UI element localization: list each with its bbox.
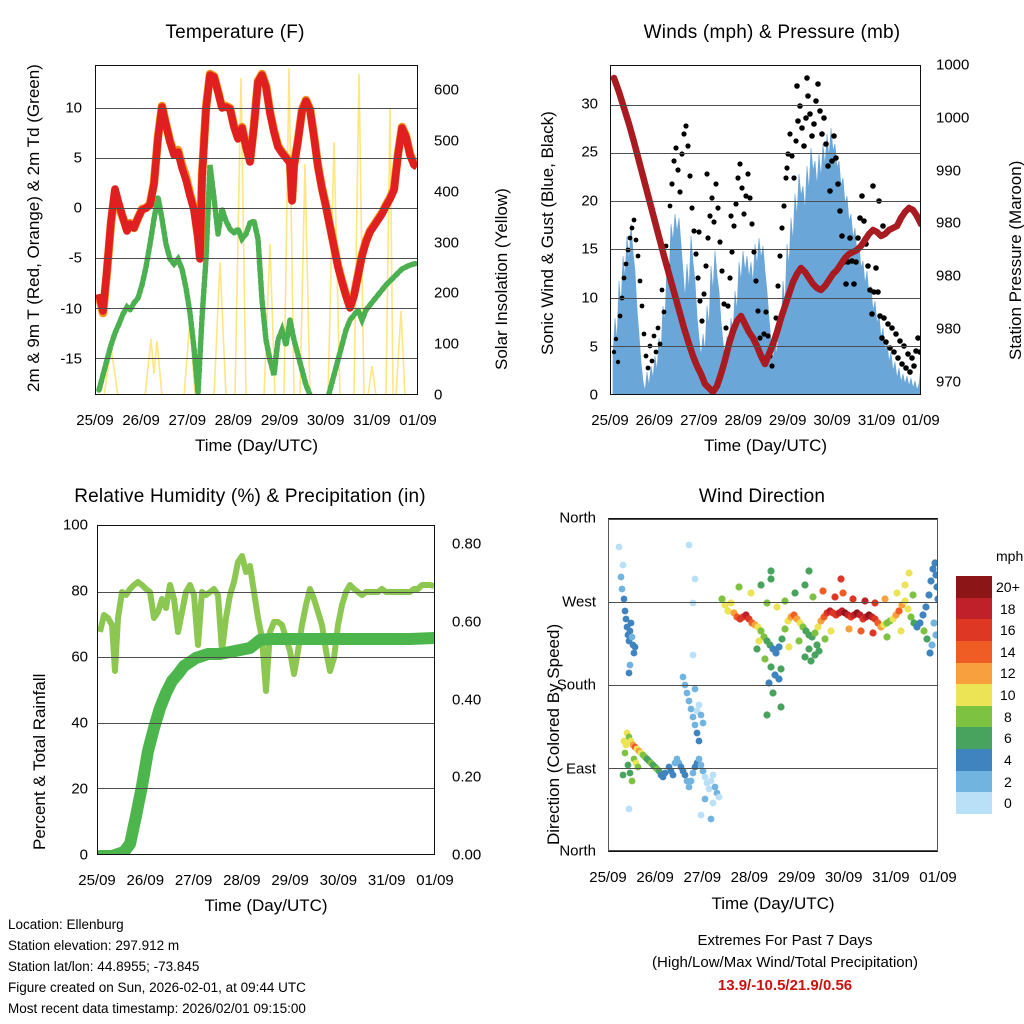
ytick-winds-left: 25 (558, 144, 598, 161)
ytick-temperature-left: -15 (40, 350, 82, 367)
panel-title-wind-direction: Wind Direction (572, 486, 952, 508)
ytick-winds-right: 980 (936, 215, 961, 232)
ytick-humidity-right: 0.40 (452, 691, 481, 708)
ytick-humidity-left: 100 (42, 517, 88, 534)
xtick-humidity: 27/09 (175, 872, 213, 889)
axis-title-temperature-right: Solar Insolation (Yellow) (492, 188, 512, 370)
ytick-winds-right: 1000 (936, 57, 969, 74)
ytick-humidity-right: 0.00 (452, 847, 481, 864)
colorbar-band (956, 598, 992, 620)
colorbar-label: 2 (1004, 774, 1012, 790)
ytick-temperature-right: 600 (434, 82, 459, 99)
xtick-winds: 31/09 (858, 412, 896, 429)
ytick-humidity-left: 20 (42, 781, 88, 798)
ytick-wind-direction: West (538, 593, 596, 610)
xtick-humidity: 30/09 (320, 872, 358, 889)
plot-area-wind-direction (608, 518, 938, 852)
ytick-winds-right: 980 (936, 321, 961, 338)
xtick-temperature: 25/09 (76, 412, 114, 429)
xtick-temperature: 28/09 (215, 412, 253, 429)
xtick-wind-direction: 30/09 (825, 869, 863, 886)
ytick-winds-right: 980 (936, 268, 961, 285)
wind-speed-colorbar (956, 576, 992, 814)
ytick-winds-left: 30 (558, 95, 598, 112)
ytick-temperature-right: 500 (434, 133, 459, 150)
ytick-humidity-left: 40 (42, 715, 88, 732)
plot-area-winds (610, 65, 921, 395)
plot-area-temperature (95, 65, 418, 395)
ytick-winds-left: 10 (558, 289, 598, 306)
axis-title-winds-left: Sonic Wind & Gust (Blue, Black) (538, 111, 558, 355)
ytick-winds-left: 15 (558, 241, 598, 258)
ytick-temperature-left: 0 (40, 199, 82, 216)
axis-title-humidity-x: Time (Day/UTC) (97, 896, 435, 916)
axis-title-humidity-left: Percent & Total Rainfall (30, 674, 50, 850)
weather-dashboard: Temperature (F) 2m & 9m T (Red, Orange) … (0, 0, 1024, 1024)
colorbar-band (956, 576, 992, 598)
ytick-temperature-left: 5 (40, 149, 82, 166)
ytick-humidity-right: 0.60 (452, 614, 481, 631)
colorbar-band (956, 706, 992, 728)
colorbar-label: 20+ (996, 579, 1020, 595)
axis-title-temperature-x: Time (Day/UTC) (95, 436, 418, 456)
wind-direction-points (616, 542, 938, 823)
colorbar-label: 12 (1000, 665, 1016, 681)
colorbar-band (956, 684, 992, 706)
temperature-series (96, 66, 418, 395)
footer-data-timestamp: Most recent data timestamp: 2026/02/01 0… (8, 1002, 306, 1016)
xtick-humidity: 31/09 (368, 872, 406, 889)
ytick-wind-direction: East (538, 760, 596, 777)
xtick-humidity: 28/09 (223, 872, 261, 889)
axis-title-winds-right: Station Pressure (Maroon) (1006, 161, 1024, 360)
ytick-temperature-left: 10 (40, 99, 82, 116)
xtick-temperature: 30/09 (307, 412, 345, 429)
colorbar-band (956, 727, 992, 749)
ytick-winds-left: 20 (558, 192, 598, 209)
footer-location: Location: Ellenburg (8, 918, 124, 932)
footer-station-latlon: Station lat/lon: 44.8955; -73.845 (8, 960, 199, 974)
ytick-wind-direction: North (538, 843, 596, 860)
panel-title-humidity: Relative Humidity (%) & Precipitation (i… (4, 486, 496, 508)
axis-title-wind-direction-x: Time (Day/UTC) (608, 894, 938, 914)
xtick-humidity: 29/09 (271, 872, 309, 889)
xtick-wind-direction: 26/09 (636, 869, 674, 886)
ytick-wind-direction: South (538, 677, 596, 694)
axis-title-wind-direction-left: Direction (Colored By Speed) (544, 624, 564, 845)
colorbar-band (956, 749, 992, 771)
xtick-wind-direction: 29/09 (778, 869, 816, 886)
ytick-humidity-left: 0 (42, 847, 88, 864)
plot-area-humidity (97, 525, 435, 855)
xtick-winds: 27/09 (680, 412, 718, 429)
xtick-humidity: 26/09 (127, 872, 165, 889)
xtick-temperature: 26/09 (122, 412, 160, 429)
ytick-temperature-right: 100 (434, 336, 459, 353)
xtick-winds: 28/09 (725, 412, 763, 429)
ytick-temperature-right: 0 (434, 387, 442, 404)
xtick-temperature: 27/09 (169, 412, 207, 429)
xtick-temperature: 01/09 (399, 412, 437, 429)
xtick-winds: 30/09 (813, 412, 851, 429)
ytick-winds-left: 0 (558, 387, 598, 404)
ytick-temperature-left: -10 (40, 300, 82, 317)
colorbar-band (956, 663, 992, 685)
extremes-subtitle: (High/Low/Max Wind/Total Precipitation) (620, 954, 950, 971)
xtick-winds: 29/09 (769, 412, 807, 429)
ytick-temperature-right: 200 (434, 285, 459, 302)
axis-title-winds-x: Time (Day/UTC) (610, 436, 921, 456)
humidity-series (98, 526, 435, 855)
ytick-wind-direction: North (538, 510, 596, 527)
xtick-winds: 26/09 (636, 412, 674, 429)
xtick-wind-direction: 31/09 (872, 869, 910, 886)
panel-title-winds: Winds (mph) & Pressure (mb) (582, 22, 962, 44)
colorbar-band (956, 641, 992, 663)
colorbar-band (956, 792, 992, 814)
colorbar-label: 0 (1004, 795, 1012, 811)
colorbar-band (956, 771, 992, 793)
colorbar-title: mph (996, 548, 1023, 564)
ytick-humidity-left: 80 (42, 583, 88, 600)
colorbar-label: 6 (1004, 730, 1012, 746)
relative-humidity-trace (100, 556, 434, 691)
xtick-winds: 25/09 (591, 412, 629, 429)
ytick-temperature-left: -5 (40, 250, 82, 267)
ytick-winds-right: 990 (936, 162, 961, 179)
colorbar-label: 8 (1004, 709, 1012, 725)
colorbar-label: 16 (1000, 622, 1016, 638)
xtick-temperature: 29/09 (261, 412, 299, 429)
panel-temperature: Temperature (F) 2m & 9m T (Red, Orange) … (0, 0, 512, 460)
colorbar-band (956, 619, 992, 641)
ytick-winds-right: 1000 (936, 109, 969, 126)
panel-title-temperature: Temperature (F) (0, 22, 470, 44)
colorbar-label: 10 (1000, 687, 1016, 703)
ytick-temperature-right: 300 (434, 234, 459, 251)
ytick-temperature-right: 400 (434, 184, 459, 201)
extremes-values: 13.9/-10.5/21.9/0.56 (620, 977, 950, 994)
xtick-wind-direction: 01/09 (919, 869, 957, 886)
ytick-humidity-right: 0.20 (452, 769, 481, 786)
ytick-winds-left: 5 (558, 338, 598, 355)
colorbar-label: 4 (1004, 752, 1012, 768)
xtick-humidity: 01/09 (416, 872, 454, 889)
panel-wind-direction: Wind Direction Direction (Colored By Spe… (512, 460, 1024, 920)
ytick-winds-right: 970 (936, 373, 961, 390)
colorbar-label: 14 (1000, 644, 1016, 660)
ytick-humidity-left: 60 (42, 649, 88, 666)
xtick-wind-direction: 25/09 (589, 869, 627, 886)
xtick-wind-direction: 27/09 (684, 869, 722, 886)
extremes-heading: Extremes For Past 7 Days (620, 932, 950, 949)
colorbar-label: 18 (1000, 601, 1016, 617)
footer-station-elevation: Station elevation: 297.912 m (8, 939, 179, 953)
ytick-humidity-right: 0.80 (452, 536, 481, 553)
xtick-winds: 01/09 (902, 412, 940, 429)
xtick-humidity: 25/09 (78, 872, 116, 889)
xtick-wind-direction: 28/09 (731, 869, 769, 886)
footer-figure-created: Figure created on Sun, 2026-02-01, at 09… (8, 981, 306, 995)
panel-winds: Winds (mph) & Pressure (mb) Sonic Wind &… (512, 0, 1024, 460)
xtick-temperature: 31/09 (353, 412, 391, 429)
panel-humidity: Relative Humidity (%) & Precipitation (i… (0, 460, 512, 920)
